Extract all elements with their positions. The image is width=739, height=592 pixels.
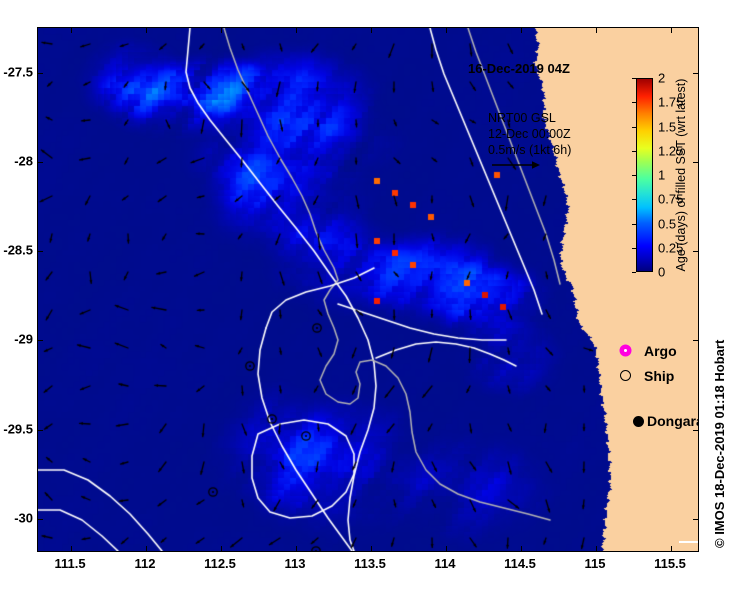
y-axis-label: -28.5	[3, 243, 33, 258]
x-axis-label: 115.5	[654, 556, 686, 571]
y-tick	[693, 73, 699, 74]
x-tick	[71, 27, 72, 33]
x-tick	[521, 546, 522, 552]
legend-label-argo: Argo	[644, 343, 677, 359]
figure-root: 16-Dec-2019 04Z NRT00 GSL 12-Dec 00:00Z …	[0, 0, 739, 592]
colorbar-title: Age (days) of filled SST (wrt latest)	[674, 79, 688, 272]
x-tick	[446, 27, 447, 33]
current-product-time: 12-Dec 00:00Z	[488, 126, 571, 142]
y-axis-label: -27.5	[3, 64, 33, 79]
colorbar-tick	[632, 127, 636, 128]
valid-time-stamp: 16-Dec-2019 04Z	[468, 61, 570, 76]
x-tick	[596, 27, 597, 33]
map-plot-area[interactable]: 16-Dec-2019 04Z NRT00 GSL 12-Dec 00:00Z …	[37, 27, 699, 552]
x-tick	[146, 27, 147, 33]
y-tick	[693, 251, 699, 252]
y-axis-label: -29	[14, 332, 33, 347]
colorbar-tick	[632, 224, 636, 225]
y-tick	[37, 251, 43, 252]
depth-key-line-200m	[679, 541, 699, 543]
depth-key-1000m: 1000m	[679, 546, 699, 552]
colorbar-tick	[632, 102, 636, 103]
x-tick	[221, 546, 222, 552]
x-tick	[296, 546, 297, 552]
depth-key-200m: 200m	[679, 526, 699, 540]
x-tick	[146, 546, 147, 552]
y-tick	[37, 519, 43, 520]
x-axis-label: 111.5	[54, 556, 85, 571]
city-marker-dongara	[633, 416, 644, 427]
x-axis-label: 112.5	[204, 556, 236, 571]
colorbar-tick	[632, 272, 636, 273]
colorbar-gradient	[636, 78, 653, 272]
colorbar-tick-label: 2	[658, 71, 665, 86]
y-tick	[37, 73, 43, 74]
x-tick	[371, 546, 372, 552]
x-axis-label: 113.5	[354, 556, 386, 571]
legend-item-argo: Argo	[614, 338, 677, 363]
x-tick	[521, 27, 522, 33]
legend-label-ship: Ship	[644, 368, 674, 384]
current-product-annotation: NRT00 GSL 12-Dec 00:00Z 0.5m/s (1kt 6h)	[488, 110, 571, 172]
legend-item-ship: Ship	[614, 363, 677, 388]
city-label-dongara: Dongara	[647, 413, 699, 429]
argo-marker-icon	[614, 346, 636, 355]
colorbar-tick	[632, 248, 636, 249]
y-tick	[37, 430, 43, 431]
x-tick	[371, 27, 372, 33]
y-tick	[693, 519, 699, 520]
sst-age-heatmap	[38, 28, 698, 551]
x-tick	[71, 546, 72, 552]
y-tick	[37, 162, 43, 163]
colorbar-tick	[632, 199, 636, 200]
x-tick	[671, 27, 672, 33]
x-tick	[446, 546, 447, 552]
colorbar-tick	[632, 175, 636, 176]
ship-marker-icon	[614, 370, 636, 381]
x-axis-label: 112	[135, 556, 156, 571]
x-tick	[596, 546, 597, 552]
y-tick	[693, 430, 699, 431]
copyright-text: © IMOS 18-Dec-2019 01:18 Hobart	[712, 340, 727, 548]
x-axis-label: 114.5	[504, 556, 536, 571]
y-axis-label: -29.5	[3, 421, 33, 436]
current-vector-scale: 0.5m/s (1kt 6h)	[488, 142, 571, 158]
y-tick	[693, 162, 699, 163]
colorbar-tick	[632, 78, 636, 79]
x-axis-label: 114	[435, 556, 456, 571]
y-tick	[37, 340, 43, 341]
x-tick	[296, 27, 297, 33]
y-axis-label: -30	[14, 510, 33, 525]
x-tick	[671, 546, 672, 552]
x-tick	[221, 27, 222, 33]
x-axis-label: 115	[585, 556, 606, 571]
y-tick	[693, 340, 699, 341]
colorbar-tick-label: 0	[658, 265, 665, 280]
y-axis-label: -28	[14, 153, 33, 168]
colorbar-tick	[632, 151, 636, 152]
current-product-name: NRT00 GSL	[488, 110, 571, 126]
x-axis-label: 113	[285, 556, 306, 571]
bathymetry-depth-key: 200m 1000m	[679, 526, 699, 552]
marker-legend: Argo Ship	[614, 338, 677, 388]
colorbar-tick-label: 1	[658, 168, 665, 183]
reference-arrow-icon	[488, 158, 571, 172]
